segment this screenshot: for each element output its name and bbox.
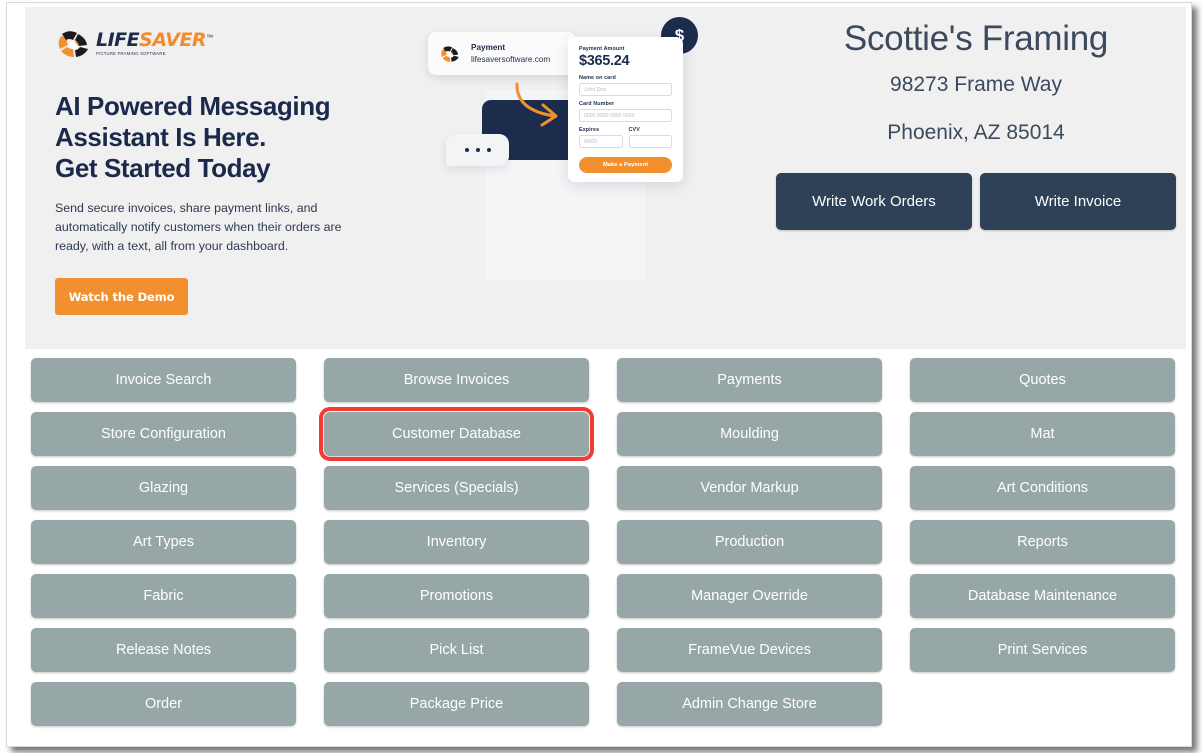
expiry-group: Expires 00/00 <box>579 127 623 153</box>
nav-button-customer-database[interactable]: Customer Database <box>324 412 589 456</box>
watch-demo-button[interactable]: Watch the Demo <box>55 278 188 315</box>
nav-button-release-notes[interactable]: Release Notes <box>31 628 296 672</box>
trademark-symbol: ™ <box>206 35 213 42</box>
nav-button-glazing[interactable]: Glazing <box>31 466 296 510</box>
nav-button-promotions[interactable]: Promotions <box>324 574 589 618</box>
nav-button-package-price[interactable]: Package Price <box>324 682 589 726</box>
nav-button-reports[interactable]: Reports <box>910 520 1175 564</box>
navigation-grid: Invoice SearchBrowse InvoicesPaymentsQuo… <box>31 358 1175 726</box>
nav-grid-empty-cell <box>910 682 1175 726</box>
nav-button-framevue-devices[interactable]: FrameVue Devices <box>617 628 882 672</box>
hero-subtext: Send secure invoices, share payment link… <box>55 199 365 257</box>
write-invoice-button[interactable]: Write Invoice <box>980 173 1176 230</box>
store-action-buttons: Write Work Orders Write Invoice <box>776 173 1176 230</box>
card-number-input[interactable]: 0000 0000 0000 0000 <box>579 109 672 122</box>
hero-banner: LIFESAVER™ PICTURE FRAMING SOFTWARE AI P… <box>25 7 1186 349</box>
nav-button-database-maintenance[interactable]: Database Maintenance <box>910 574 1175 618</box>
payment-form-card: Payment Amount $365.24 Name on card John… <box>568 37 683 182</box>
store-address-line-2: Phoenix, AZ 85014 <box>776 121 1176 145</box>
nav-button-store-configuration[interactable]: Store Configuration <box>31 412 296 456</box>
nav-button-inventory[interactable]: Inventory <box>324 520 589 564</box>
nav-button-mat[interactable]: Mat <box>910 412 1175 456</box>
store-address-line-1: 98273 Frame Way <box>776 73 1176 97</box>
headline-line-1: AI Powered Messaging <box>55 91 330 121</box>
typing-dot <box>487 148 491 152</box>
headline-line-3: Get Started Today <box>55 153 270 183</box>
cvv-input[interactable] <box>629 135 673 148</box>
nav-button-quotes[interactable]: Quotes <box>910 358 1175 402</box>
make-a-payment-button[interactable]: Make a Payment <box>579 157 672 173</box>
name-on-card-input[interactable]: John Doe <box>579 83 672 96</box>
wordmark-saver: SAVER <box>139 29 206 51</box>
curved-arrow-icon <box>512 80 572 140</box>
lifesaver-logo-icon <box>55 29 95 59</box>
nav-button-pick-list[interactable]: Pick List <box>324 628 589 672</box>
expires-input[interactable]: 00/00 <box>579 135 623 148</box>
nav-button-print-services[interactable]: Print Services <box>910 628 1175 672</box>
nav-button-fabric[interactable]: Fabric <box>31 574 296 618</box>
nav-button-payments[interactable]: Payments <box>617 358 882 402</box>
hero-illustration: Payment lifesaversoftware.com $ Payment … <box>420 12 710 297</box>
nav-button-manager-override[interactable]: Manager Override <box>617 574 882 618</box>
hero-left-column: LIFESAVER™ PICTURE FRAMING SOFTWARE AI P… <box>55 27 405 315</box>
nav-button-browse-invoices[interactable]: Browse Invoices <box>324 358 589 402</box>
nav-button-production[interactable]: Production <box>617 520 882 564</box>
headline-line-2: Assistant Is Here. <box>55 122 266 152</box>
notification-domain: lifesaversoftware.com <box>471 54 550 65</box>
application-window: LIFESAVER™ PICTURE FRAMING SOFTWARE AI P… <box>6 2 1192 747</box>
cvv-label: CVV <box>629 127 673 133</box>
typing-dot <box>476 148 480 152</box>
typing-dot <box>465 148 469 152</box>
store-info-panel: Scottie's Framing 98273 Frame Way Phoeni… <box>776 17 1176 230</box>
brand-tagline: PICTURE FRAMING SOFTWARE <box>96 52 215 56</box>
card-number-label: Card Number <box>579 101 672 107</box>
nav-button-art-types[interactable]: Art Types <box>31 520 296 564</box>
nav-button-admin-change-store[interactable]: Admin Change Store <box>617 682 882 726</box>
nav-button-services-specials[interactable]: Services (Specials) <box>324 466 589 510</box>
wordmark-text: LIFESAVER™ <box>96 31 213 50</box>
nav-button-vendor-markup[interactable]: Vendor Markup <box>617 466 882 510</box>
payment-amount-value: $365.24 <box>579 53 672 69</box>
notification-text-block: Payment lifesaversoftware.com <box>471 42 550 64</box>
payment-notification-card: Payment lifesaversoftware.com <box>428 32 576 75</box>
store-name: Scottie's Framing <box>776 17 1176 61</box>
nav-button-order[interactable]: Order <box>31 682 296 726</box>
cvv-group: CVV <box>629 127 673 153</box>
expiry-cvv-row: Expires 00/00 CVV <box>579 127 672 153</box>
brand-wordmark: LIFESAVER™ PICTURE FRAMING SOFTWARE <box>96 31 213 56</box>
typing-indicator-bubble <box>446 134 509 166</box>
name-on-card-label: Name on card <box>579 75 672 81</box>
hero-headline: AI Powered Messaging Assistant Is Here. … <box>55 91 405 184</box>
nav-button-art-conditions[interactable]: Art Conditions <box>910 466 1175 510</box>
nav-button-invoice-search[interactable]: Invoice Search <box>31 358 296 402</box>
wordmark-life: LIFE <box>96 29 139 51</box>
payment-amount-label: Payment Amount <box>579 46 672 52</box>
notification-title: Payment <box>471 42 550 53</box>
expires-label: Expires <box>579 127 623 133</box>
write-work-orders-button[interactable]: Write Work Orders <box>776 173 972 230</box>
brand-logo: LIFESAVER™ PICTURE FRAMING SOFTWARE <box>55 27 405 61</box>
notification-lifesaver-icon <box>439 45 463 63</box>
nav-button-moulding[interactable]: Moulding <box>617 412 882 456</box>
